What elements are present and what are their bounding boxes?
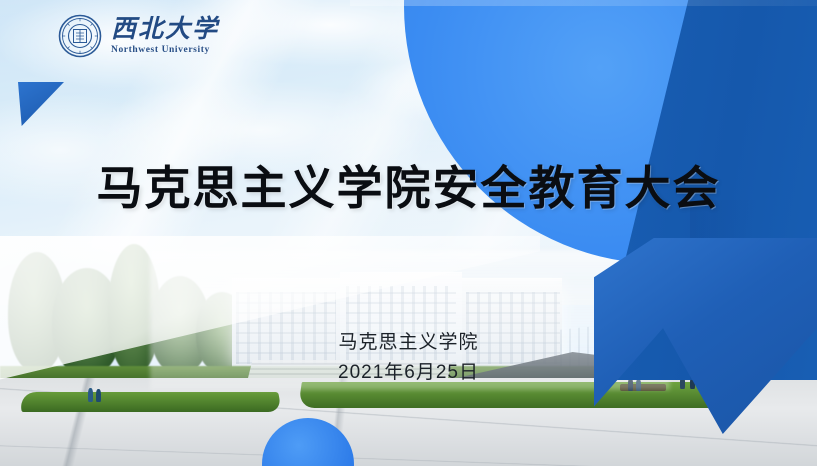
logo-name-cn: 西北大学: [111, 17, 219, 42]
presentation-slide: 西北大学 Northwest University 马克思主义学院安全教育大会 …: [0, 0, 817, 466]
university-seal-icon: [58, 14, 102, 58]
logo-name-en: Northwest University: [111, 46, 219, 56]
subtitle-organization: 马克思主义学院: [0, 328, 817, 358]
subtitle-date: 2021年6月25日: [0, 358, 817, 388]
slide-title: 马克思主义学院安全教育大会: [0, 152, 817, 218]
university-logo: 西北大学 Northwest University: [58, 14, 219, 58]
top-sheen-decoration: [350, 0, 817, 6]
person-silhouette: [96, 389, 101, 402]
slide-subtitle: 马克思主义学院 2021年6月25日: [0, 328, 817, 388]
person-silhouette: [88, 388, 93, 402]
lawn-patch: [18, 392, 282, 412]
logo-wordmark: 西北大学 Northwest University: [111, 17, 219, 56]
